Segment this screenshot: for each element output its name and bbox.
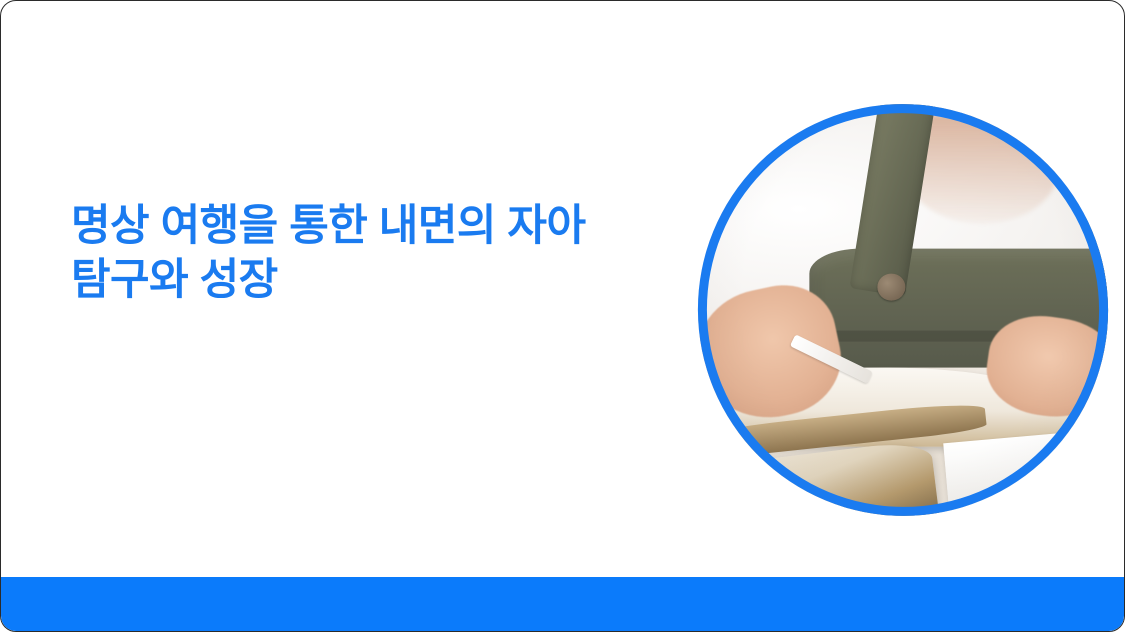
page-title: 명상 여행을 통한 내면의 자아 탐구와 성장 — [71, 199, 681, 307]
slide-canvas: 명상 여행을 통한 내면의 자아 탐구와 성장 — [0, 0, 1125, 632]
photo-vignette — [651, 71, 1125, 565]
photo-writing-person — [651, 71, 1125, 565]
photo-frame — [647, 53, 1125, 567]
bottom-accent-bar — [1, 577, 1124, 631]
title-block: 명상 여행을 통한 내면의 자아 탐구와 성장 — [71, 199, 681, 307]
photo-clip — [647, 53, 1125, 567]
